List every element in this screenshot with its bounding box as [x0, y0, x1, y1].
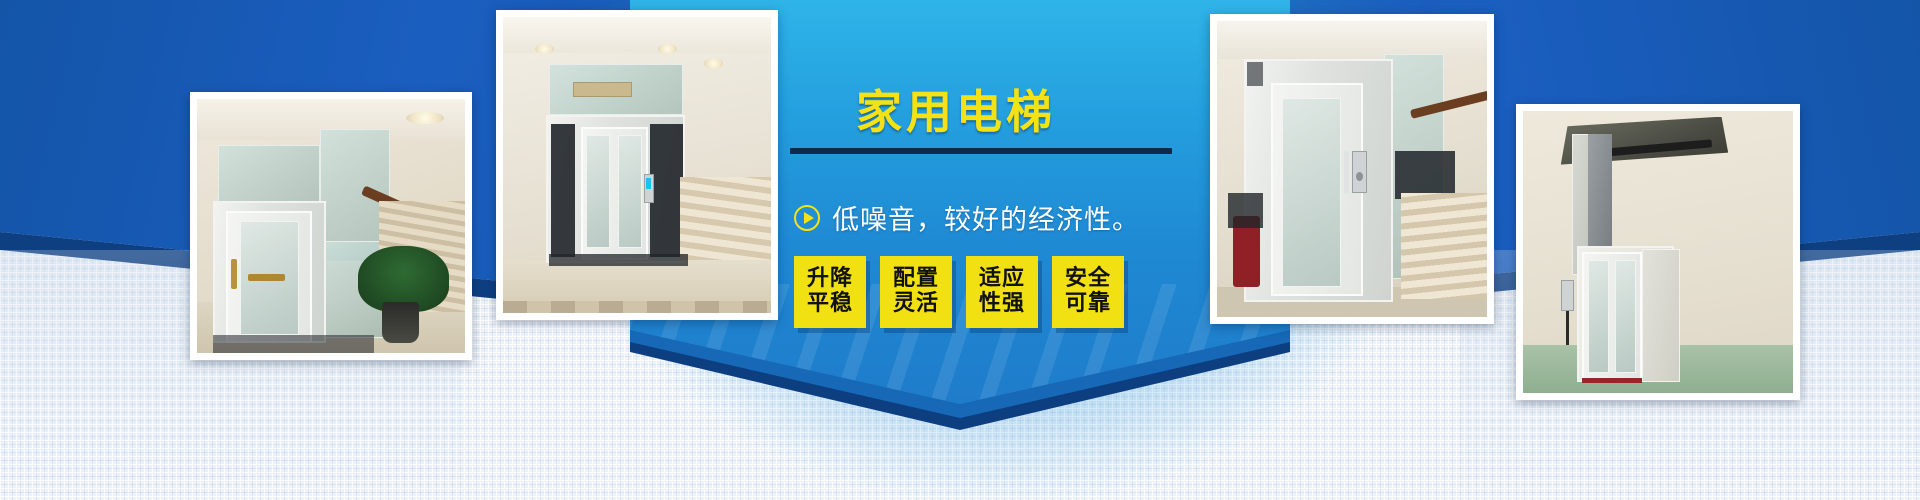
- badge-line-2: 平稳: [807, 292, 853, 317]
- circled-arrow-right-icon: [794, 205, 820, 231]
- photo-image: [1217, 21, 1487, 317]
- badge-line-2: 灵活: [893, 292, 939, 317]
- page-title: 家用电梯: [856, 76, 1056, 142]
- badge-line-1: 安全: [1065, 267, 1111, 292]
- badge-line-2: 性强: [979, 292, 1025, 317]
- feature-badge-list: 升降 平稳 配置 灵活 适应 性强 安全 可靠: [794, 256, 1124, 328]
- feature-badge[interactable]: 配置 灵活: [880, 256, 952, 328]
- subtitle-text: 低噪音，较好的经济性。: [832, 198, 1140, 237]
- photo-stainless-elevator-by-staircase: [1210, 14, 1494, 324]
- badge-line-2: 可靠: [1065, 292, 1111, 317]
- photo-white-cabin-elevator-hallway: [496, 10, 778, 320]
- photo-image: [197, 99, 465, 353]
- feature-badge[interactable]: 升降 平稳: [794, 256, 866, 328]
- badge-line-1: 配置: [893, 267, 939, 292]
- photo-image: [503, 17, 771, 313]
- photo-villa-glass-elevator-with-plant: [190, 92, 472, 360]
- badge-line-1: 适应: [979, 267, 1025, 292]
- center-content: 家用电梯 低噪音，较好的经济性。 升降 平稳 配置 灵活 适应 性强 安全 可靠: [780, 0, 1200, 404]
- photo-elevator-installation-site: [1516, 104, 1800, 400]
- subtitle-row: 低噪音，较好的经济性。: [794, 198, 1140, 237]
- title-divider: [790, 148, 1172, 154]
- badge-line-1: 升降: [807, 267, 853, 292]
- photo-image: [1523, 111, 1793, 393]
- feature-badge[interactable]: 安全 可靠: [1052, 256, 1124, 328]
- home-elevator-banner: 家用电梯 低噪音，较好的经济性。 升降 平稳 配置 灵活 适应 性强 安全 可靠: [0, 0, 1920, 500]
- feature-badge[interactable]: 适应 性强: [966, 256, 1038, 328]
